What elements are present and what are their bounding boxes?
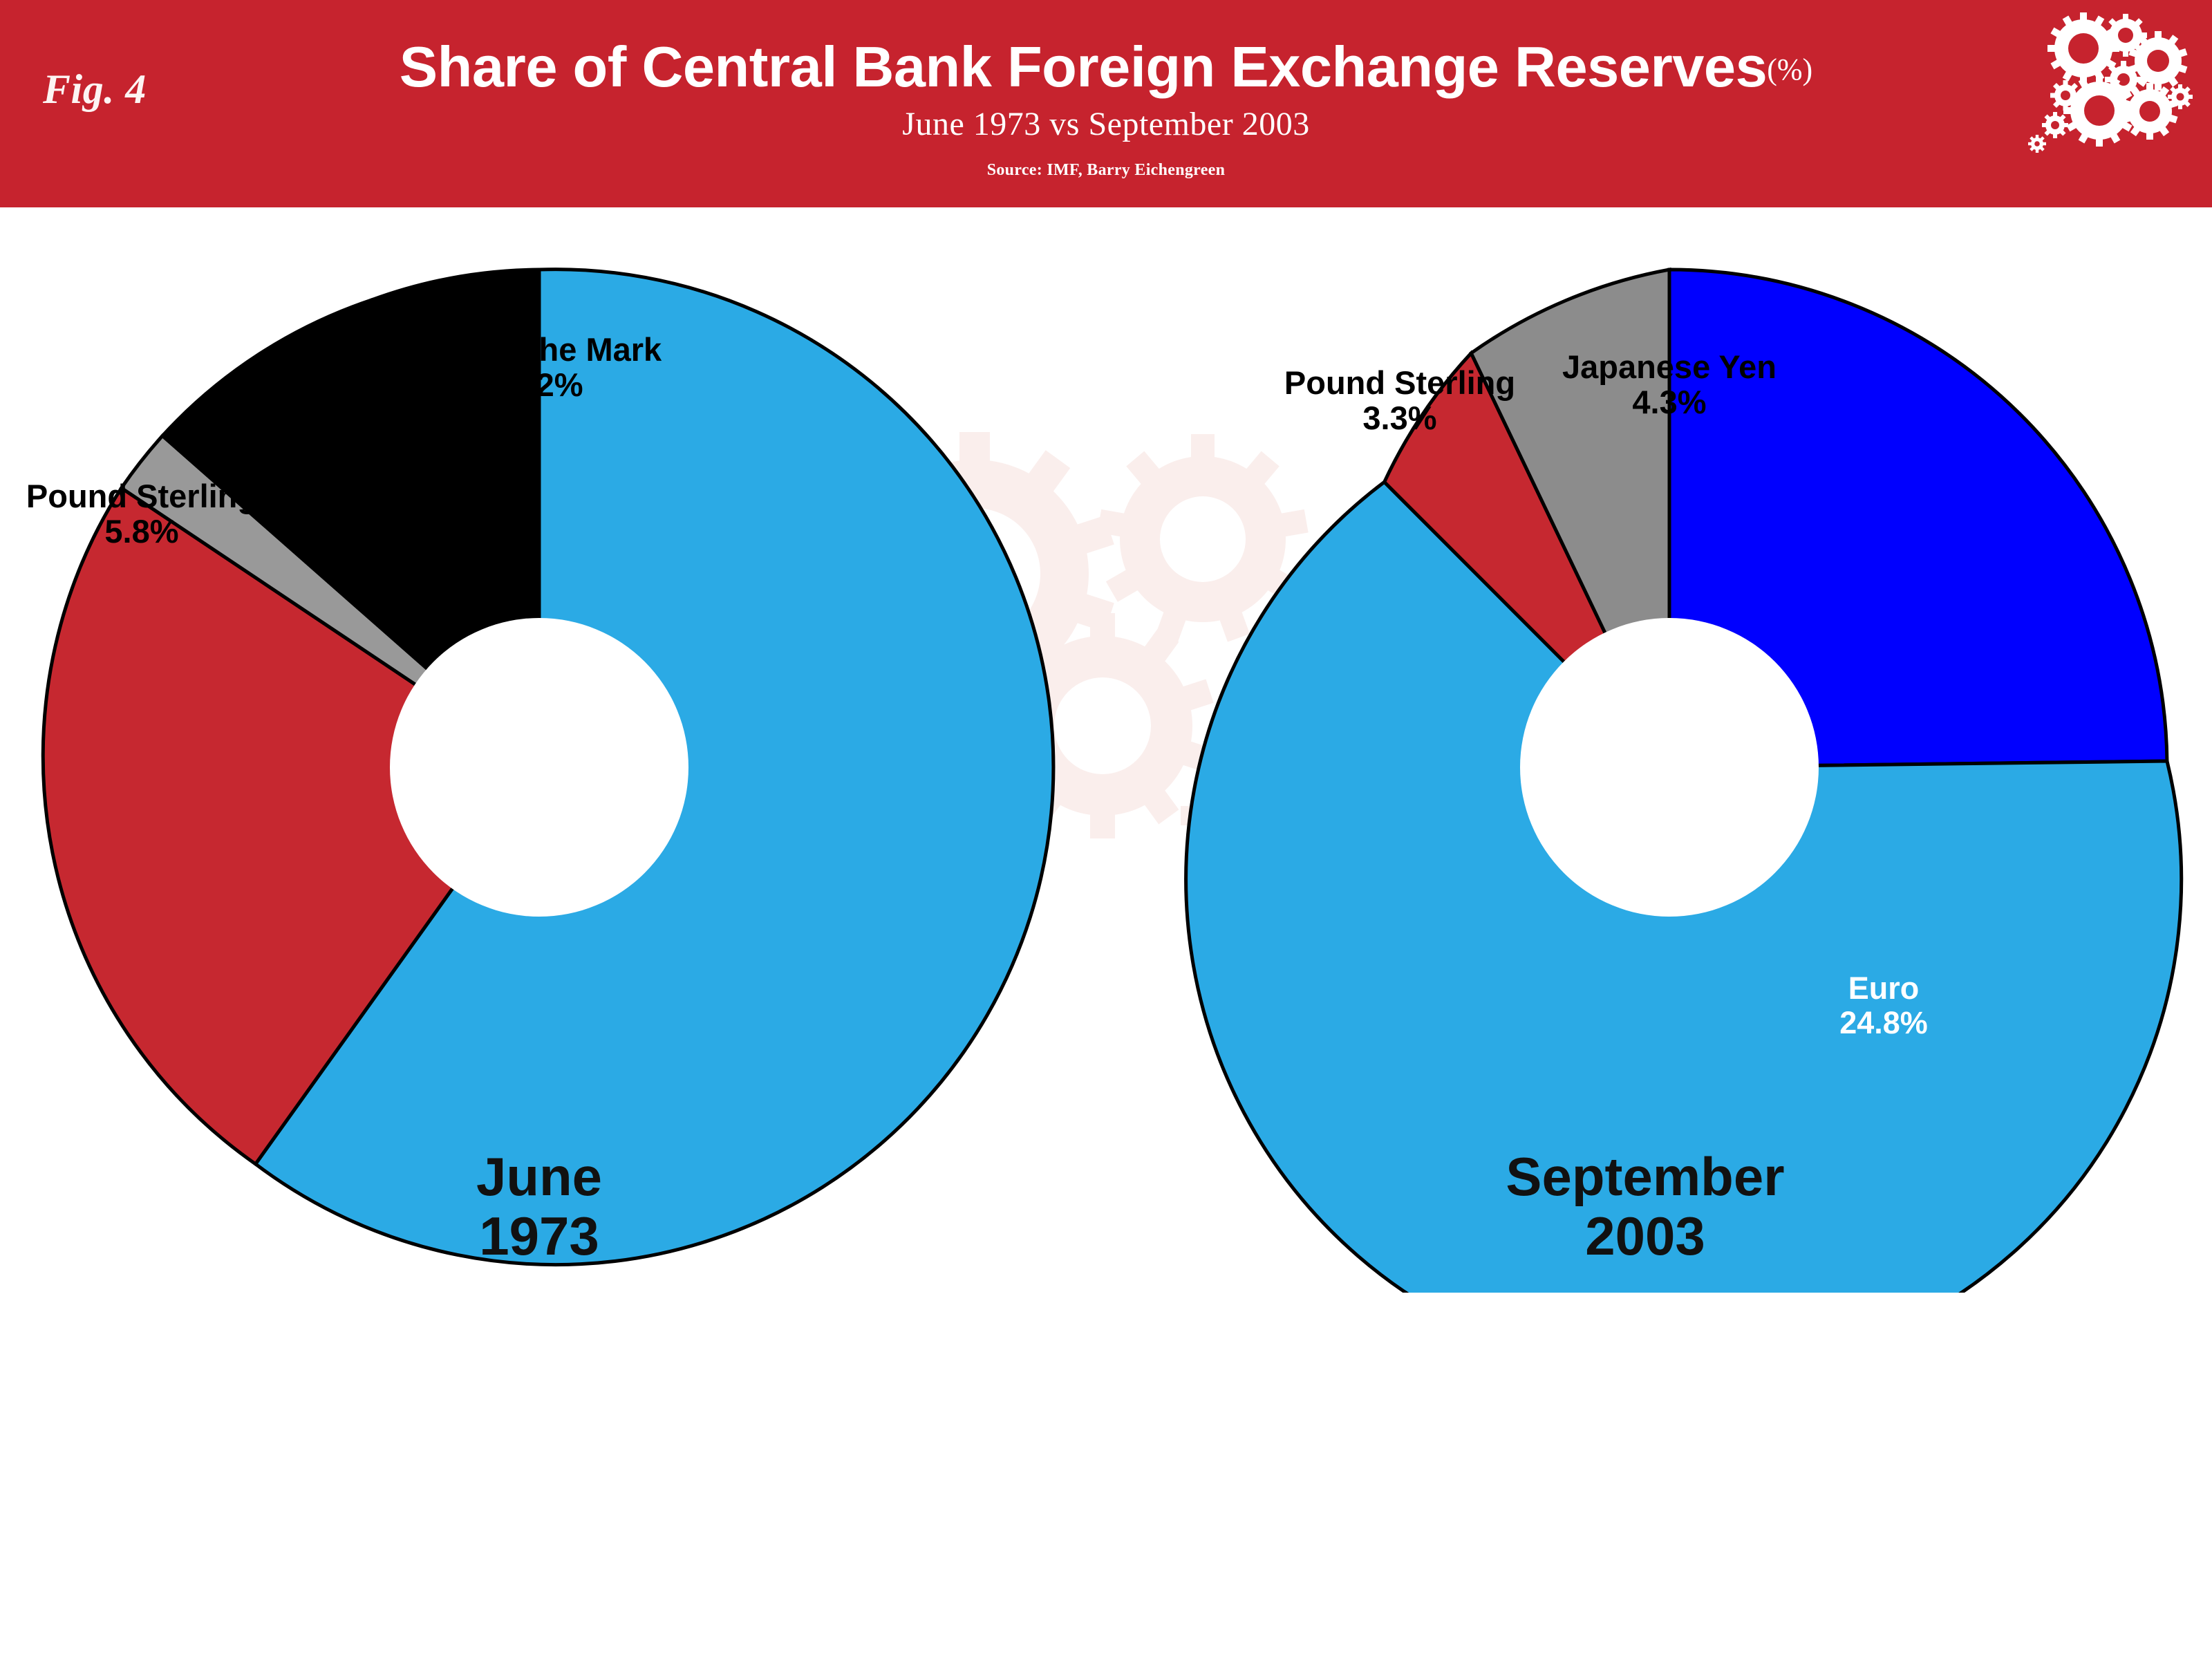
- source-note: Source: IMF, Barry Eichengreen: [0, 161, 2212, 180]
- callout-pound-sterling-2003: Pound Sterling 3.3%: [1268, 365, 1531, 435]
- callout-value: 4.3%: [1541, 384, 1797, 420]
- callout-japanese-yen-2003: Japanese Yen 4.3%: [1541, 349, 1797, 420]
- center-label-line2: 2003: [1479, 1207, 1811, 1266]
- page-subtitle: June 1973 vs September 2003: [0, 105, 2212, 143]
- donut-hole: [390, 618, 688, 917]
- gears-logo-icon: [2027, 6, 2200, 158]
- slice-label-us-dollar-1973: US Dollar 84.7%: [574, 1306, 781, 1376]
- donut-hole: [1520, 618, 1819, 917]
- callout-name: Pound Sterling: [1284, 364, 1515, 401]
- center-label-june-1973: June 1973: [401, 1147, 677, 1266]
- center-label-september-2003: September 2003: [1479, 1147, 1811, 1266]
- page-title: Share of Central Bank Foreign Exchange R…: [0, 38, 2212, 95]
- slice-label-value: 24.8%: [1783, 1006, 1984, 1040]
- callout-french-franc-1973: French Franc 1.6%: [211, 384, 432, 454]
- slice-label-value: 65.5%: [1320, 1341, 1528, 1376]
- slice-label-name: Euro: [1848, 971, 1920, 1006]
- title-block: Share of Central Bank Foreign Exchange R…: [0, 0, 2212, 180]
- center-label-line1: June: [476, 1146, 602, 1207]
- figure-page: Fig. 4 Share of Central Bank Foreign Exc…: [0, 0, 2212, 1659]
- callout-value: 3.3%: [1268, 400, 1531, 435]
- callout-deutsche-mark-1973: Deutsche Mark 5.2%: [408, 332, 684, 402]
- slice-label-value: 84.7%: [574, 1341, 781, 1376]
- callout-value: 5.2%: [408, 367, 684, 402]
- callout-value: 1.6%: [211, 419, 432, 454]
- slice-label-us-dollar-2003: US Dollar 65.5%: [1320, 1306, 1528, 1376]
- charts-stage: Pound Sterling 5.8% French Franc 1.6% De…: [0, 207, 2212, 1659]
- callout-name: Deutsche Mark: [431, 331, 662, 368]
- callout-name: French Franc: [218, 383, 424, 420]
- callout-value: 5.8%: [10, 514, 273, 549]
- center-label-line2: 1973: [401, 1207, 677, 1266]
- page-title-text: Share of Central Bank Foreign Exchange R…: [400, 35, 1767, 99]
- slice-label-name: US Dollar: [1354, 1306, 1494, 1341]
- slice-label-name: US Dollar: [608, 1306, 748, 1341]
- slice-label-euro-2003: Euro 24.8%: [1783, 971, 1984, 1041]
- callout-name: Pound Sterling: [26, 478, 257, 514]
- header-banner: Fig. 4 Share of Central Bank Foreign Exc…: [0, 0, 2212, 207]
- donut-slices-june-1973: [43, 270, 1053, 1265]
- callout-pound-sterling-1973: Pound Sterling 5.8%: [10, 478, 273, 549]
- center-label-line1: September: [1506, 1146, 1784, 1207]
- callout-name: Japanese Yen: [1562, 348, 1777, 385]
- page-title-unit: (%): [1767, 53, 1812, 86]
